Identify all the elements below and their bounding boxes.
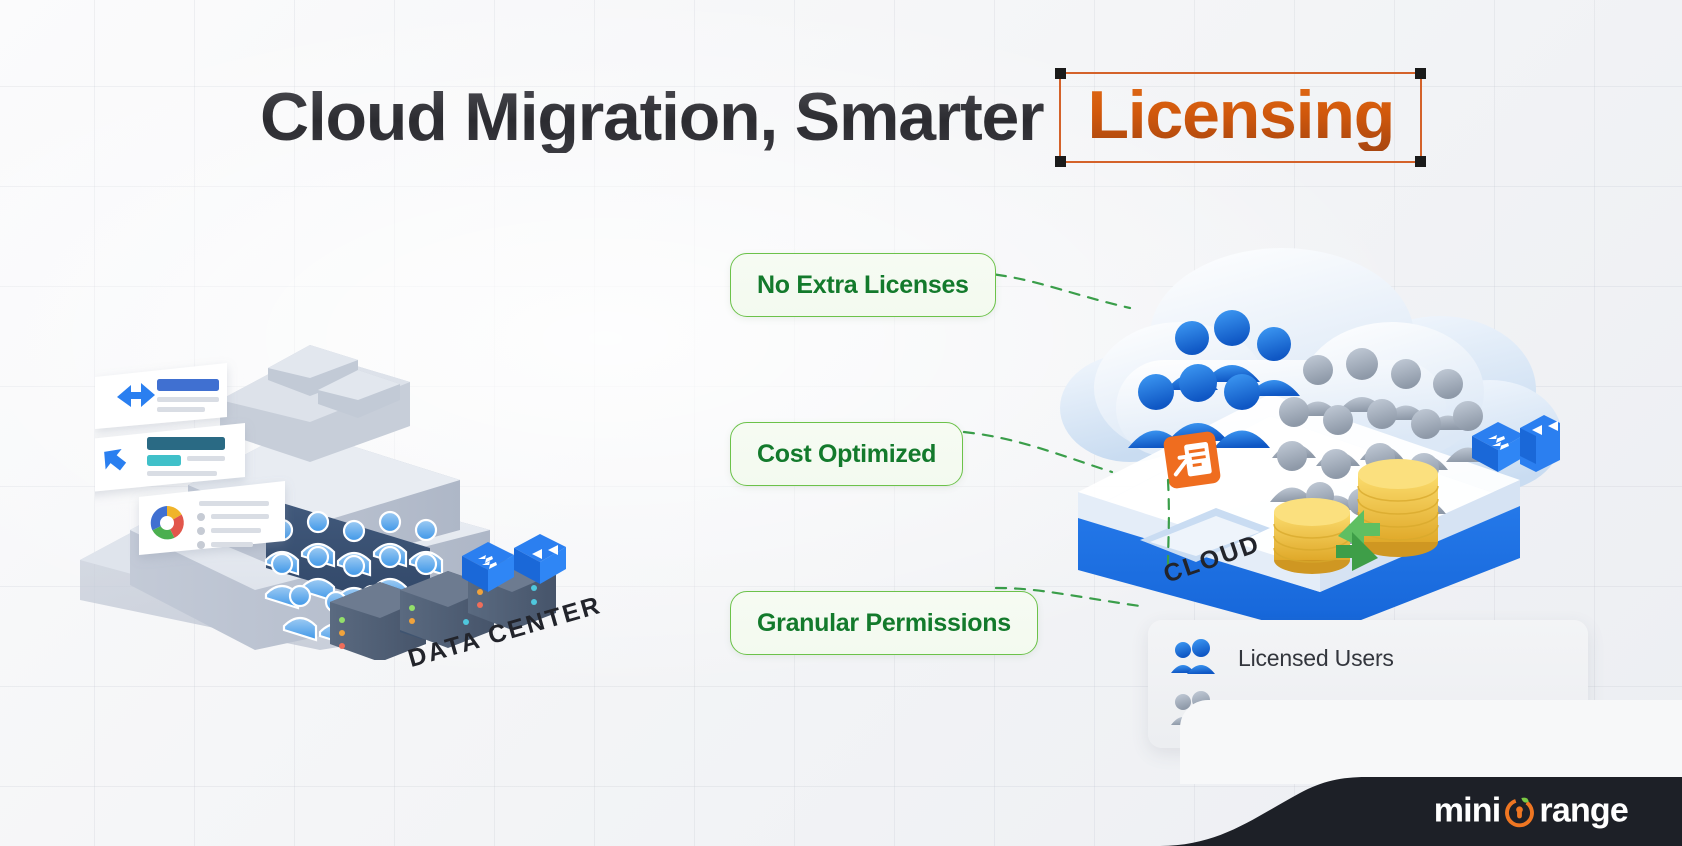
data-center-floating-cards [95, 355, 385, 570]
feature-pill-label: Granular Permissions [757, 609, 1011, 638]
title-highlight-text: Licensing [1087, 80, 1394, 151]
title-main-text: Cloud Migration, Smarter [260, 82, 1059, 153]
feature-pill-label: Cost Optimized [757, 440, 936, 469]
card-upload [95, 363, 227, 429]
legend-row-licensed-users: Licensed Users [1170, 639, 1566, 677]
highlight-selection-box[interactable]: Licensing [1059, 72, 1422, 163]
feature-pill-no-extra-licenses[interactable]: No Extra Licenses [730, 253, 996, 317]
selection-handle-top-right[interactable] [1415, 68, 1426, 79]
footer-bar: mini range [1160, 775, 1682, 846]
card-download [95, 423, 245, 493]
cloud-platform-illustration [1020, 240, 1560, 660]
feature-pill-granular-permissions[interactable]: Granular Permissions [730, 591, 1038, 655]
card-analytics [139, 481, 285, 555]
infographic-canvas: Cloud Migration, Smarter Licensing No Ex… [0, 0, 1682, 846]
selection-handle-bottom-left[interactable] [1055, 156, 1066, 167]
selection-handle-bottom-right[interactable] [1415, 156, 1426, 167]
selection-handle-top-left[interactable] [1055, 68, 1066, 79]
footer-white-panel [1180, 700, 1682, 784]
page-title: Cloud Migration, Smarter Licensing [0, 72, 1682, 163]
pie-chart-icon [151, 506, 184, 539]
logo-text-prefix: mini [1434, 791, 1501, 830]
legend-label-licensed-users: Licensed Users [1238, 645, 1394, 672]
logo-text-suffix: range [1539, 791, 1628, 830]
secure-share-tile-icon [1163, 431, 1222, 490]
feature-pill-cost-optimized[interactable]: Cost Optimized [730, 422, 963, 486]
miniorange-logo[interactable]: mini range [1434, 791, 1628, 830]
feature-pill-label: No Extra Licenses [757, 271, 969, 300]
logo-orange-icon [1501, 792, 1538, 829]
users-blue-icon [1170, 639, 1216, 677]
